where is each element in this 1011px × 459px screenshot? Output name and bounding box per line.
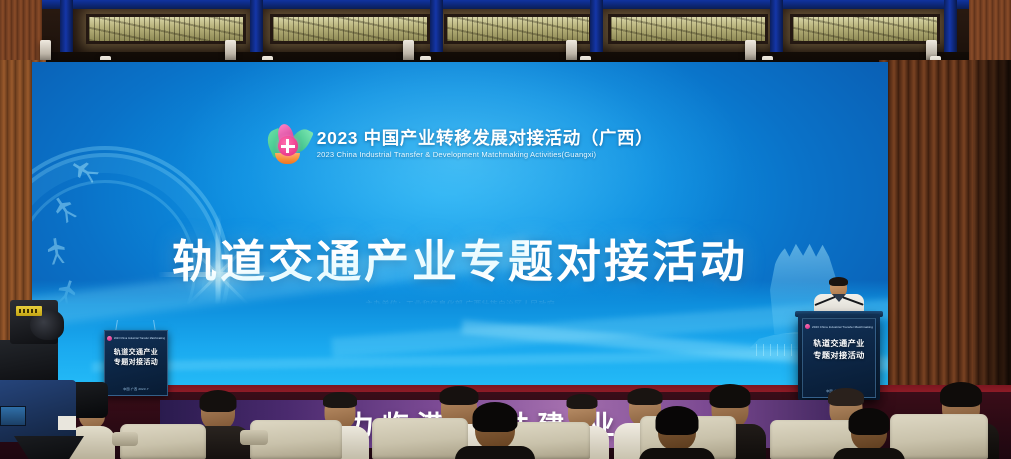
event-title-cn: 2023 中国产业转移发展对接活动（广西） (317, 129, 653, 149)
audience-member (462, 404, 528, 459)
sign-title-line-2: 专题对接活动 (803, 350, 875, 362)
audience-member (646, 408, 708, 459)
camera-paper-note (58, 416, 76, 430)
ceiling-beam-cross (42, 0, 969, 9)
sign-english-title: 2023 China Industrial Transfer Matchmaki… (812, 325, 873, 329)
sign-emblem-icon (805, 324, 810, 329)
sign-title-line-1: 轨道交通产业 (803, 338, 875, 350)
event-header: 2023 中国产业转移发展对接活动（广西） 2023 China Industr… (32, 124, 888, 164)
guangxi-flower-emblem-icon (267, 124, 309, 164)
audience-chair (890, 414, 988, 459)
sign-english-title: 2023 China Industrial Transfer Matchmaki… (114, 337, 165, 340)
audience-member (840, 410, 898, 459)
camera-label-icon (16, 306, 42, 316)
chair-armrest (112, 432, 138, 446)
event-title-en: 2023 China Industrial Transfer & Develop… (317, 150, 653, 159)
lectern-sign-left: 2023 China Industrial Transfer Matchmaki… (104, 330, 168, 396)
conference-hall-photo: 2023 中国产业转移发展对接活动（广西） 2023 China Industr… (0, 0, 1011, 459)
sign-title-line-1: 轨道交通产业 (105, 348, 167, 358)
sign-title-line-2: 专题对接活动 (105, 358, 167, 368)
camera-monitor-screen (0, 406, 26, 426)
ceiling-light-panel (790, 14, 940, 44)
chair-armrest (240, 430, 268, 445)
video-camera (0, 288, 108, 459)
ceiling-light-panel (608, 14, 768, 44)
audience-chair (372, 418, 468, 459)
sign-footer: 中国·广西 2023.7 (105, 387, 167, 391)
lectern-sign-podium: 2023 China Industrial Transfer Matchmaki… (802, 318, 876, 398)
wall-panel-right-shadow (973, 60, 1011, 390)
ceiling-light-panel (86, 14, 246, 44)
tripod-head (14, 436, 84, 459)
